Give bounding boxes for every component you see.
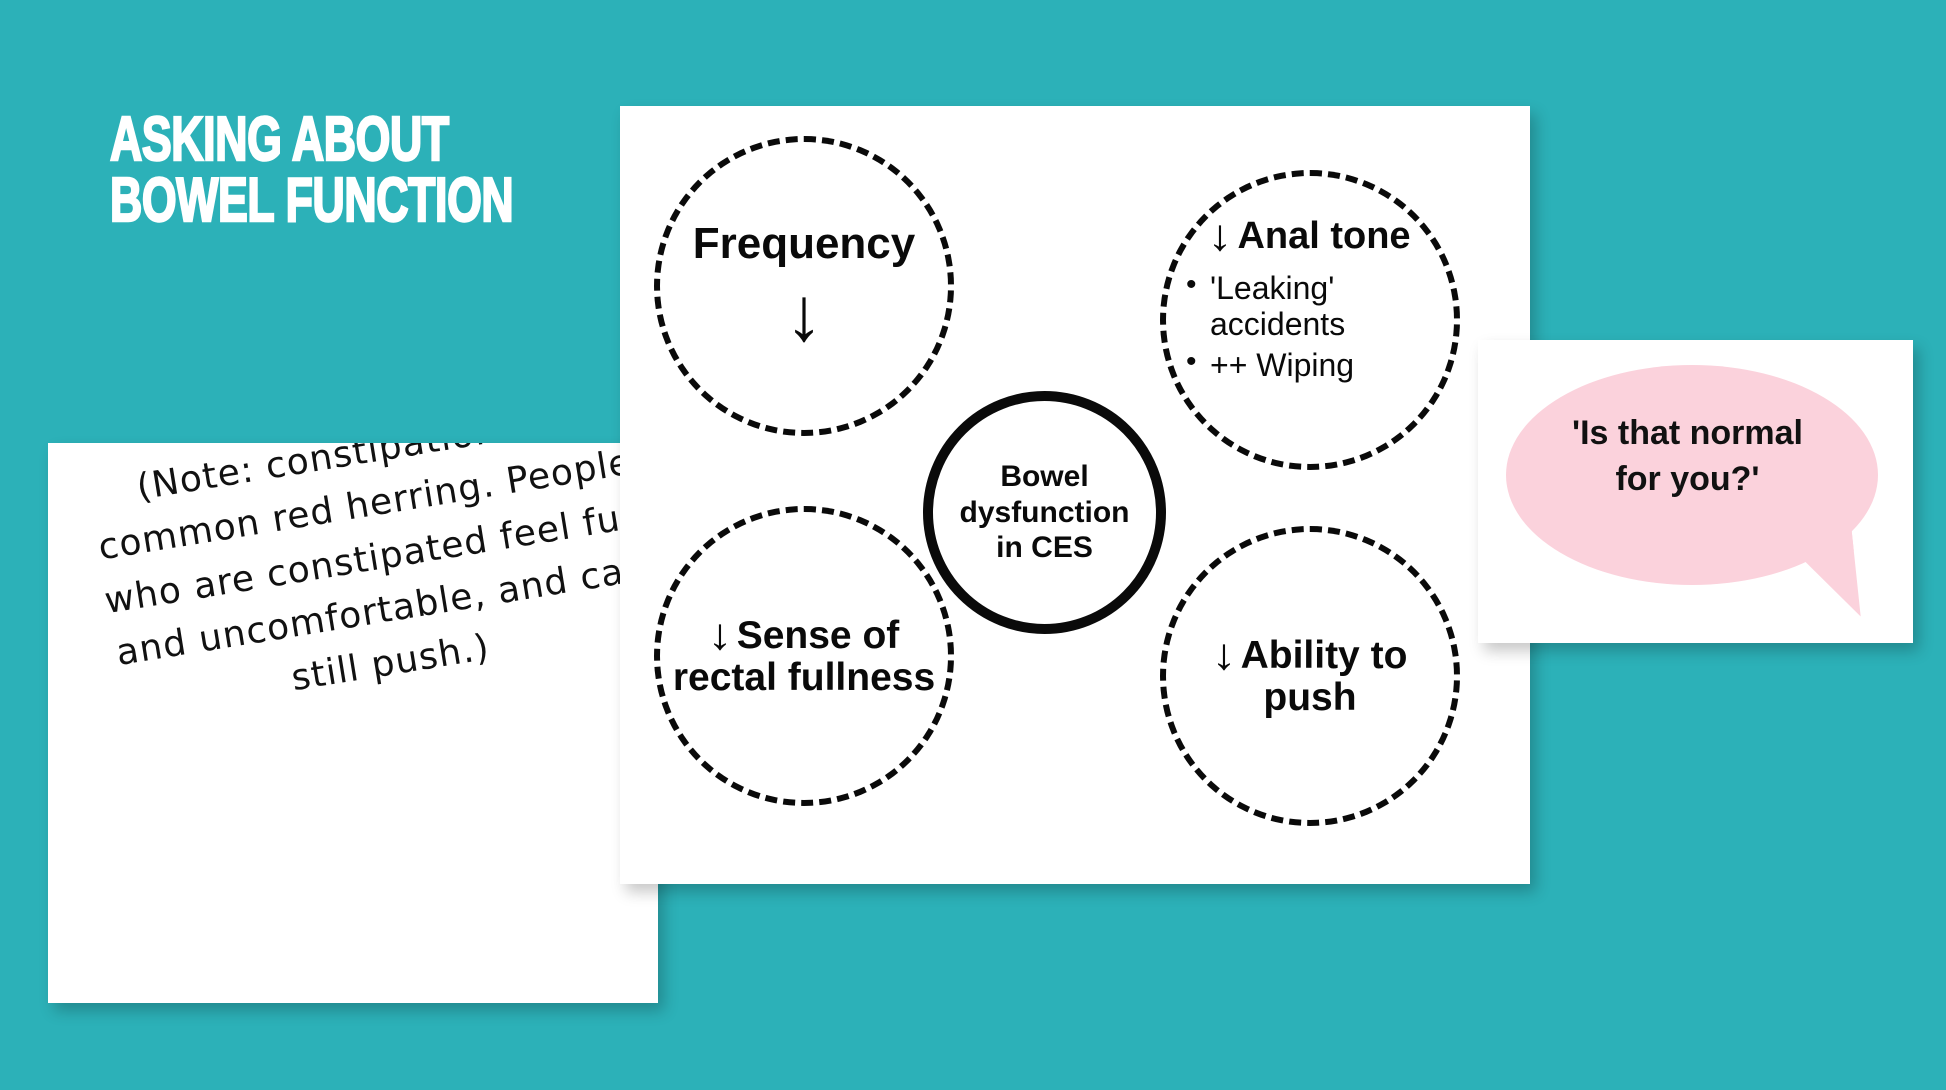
down-arrow-icon: ↓ xyxy=(1211,633,1236,677)
down-arrow-icon: ↓ xyxy=(785,277,823,353)
speech-bubble-card: 'Is that normal for you?' xyxy=(1478,340,1913,643)
speech-bubble-line-1: 'Is that normal xyxy=(1498,411,1878,457)
page-title-line-2: Bowel function xyxy=(110,171,513,232)
diagram-node-ability-push[interactable]: ↓ Ability to push xyxy=(1160,526,1460,826)
diagram-node-frequency[interactable]: Frequency ↓ xyxy=(654,136,954,436)
diagram-node-anal-tone[interactable]: ↓ Anal tone 'Leaking' accidents ++ Wipin… xyxy=(1160,170,1460,470)
page-title-line-1: Asking about xyxy=(110,110,513,171)
diagram-center-node[interactable]: Bowel dysfunction in CES xyxy=(923,391,1166,634)
list-item: 'Leaking' accidents xyxy=(1184,270,1454,343)
diagram-node-rectal-fullness-label: Sense of xyxy=(737,615,900,656)
diagram-node-rectal-fullness-label-rest: rectal fullness xyxy=(673,657,935,698)
diagram-center-label: Bowel dysfunction in CES xyxy=(933,459,1156,565)
diagram-card: Frequency ↓ ↓ Anal tone 'Leaking' accide… xyxy=(620,106,1530,884)
speech-bubble-line-2: for you?' xyxy=(1498,457,1878,503)
note-text: (Note: constipation is a common red herr… xyxy=(66,443,658,736)
note-card: (Note: constipation is a common red herr… xyxy=(48,443,658,1003)
diagram-node-ability-push-label: Ability to xyxy=(1241,635,1408,676)
diagram-node-anal-tone-label: Anal tone xyxy=(1237,216,1410,256)
speech-bubble-text: 'Is that normal for you?' xyxy=(1498,411,1878,502)
down-arrow-icon: ↓ xyxy=(707,613,732,657)
list-item: ++ Wiping xyxy=(1184,347,1454,383)
speech-bubble-tail-icon xyxy=(1771,523,1860,625)
down-arrow-icon: ↓ xyxy=(1208,214,1233,258)
page-title: Asking about Bowel function xyxy=(110,110,513,232)
diagram-node-frequency-label: Frequency xyxy=(693,219,916,269)
diagram-node-rectal-fullness[interactable]: ↓ Sense of rectal fullness xyxy=(654,506,954,806)
diagram-node-ability-push-label-rest: push xyxy=(1263,677,1356,718)
speech-bubble: 'Is that normal for you?' xyxy=(1498,359,1894,624)
anal-tone-bullet-list: 'Leaking' accidents ++ Wiping xyxy=(1166,270,1454,387)
